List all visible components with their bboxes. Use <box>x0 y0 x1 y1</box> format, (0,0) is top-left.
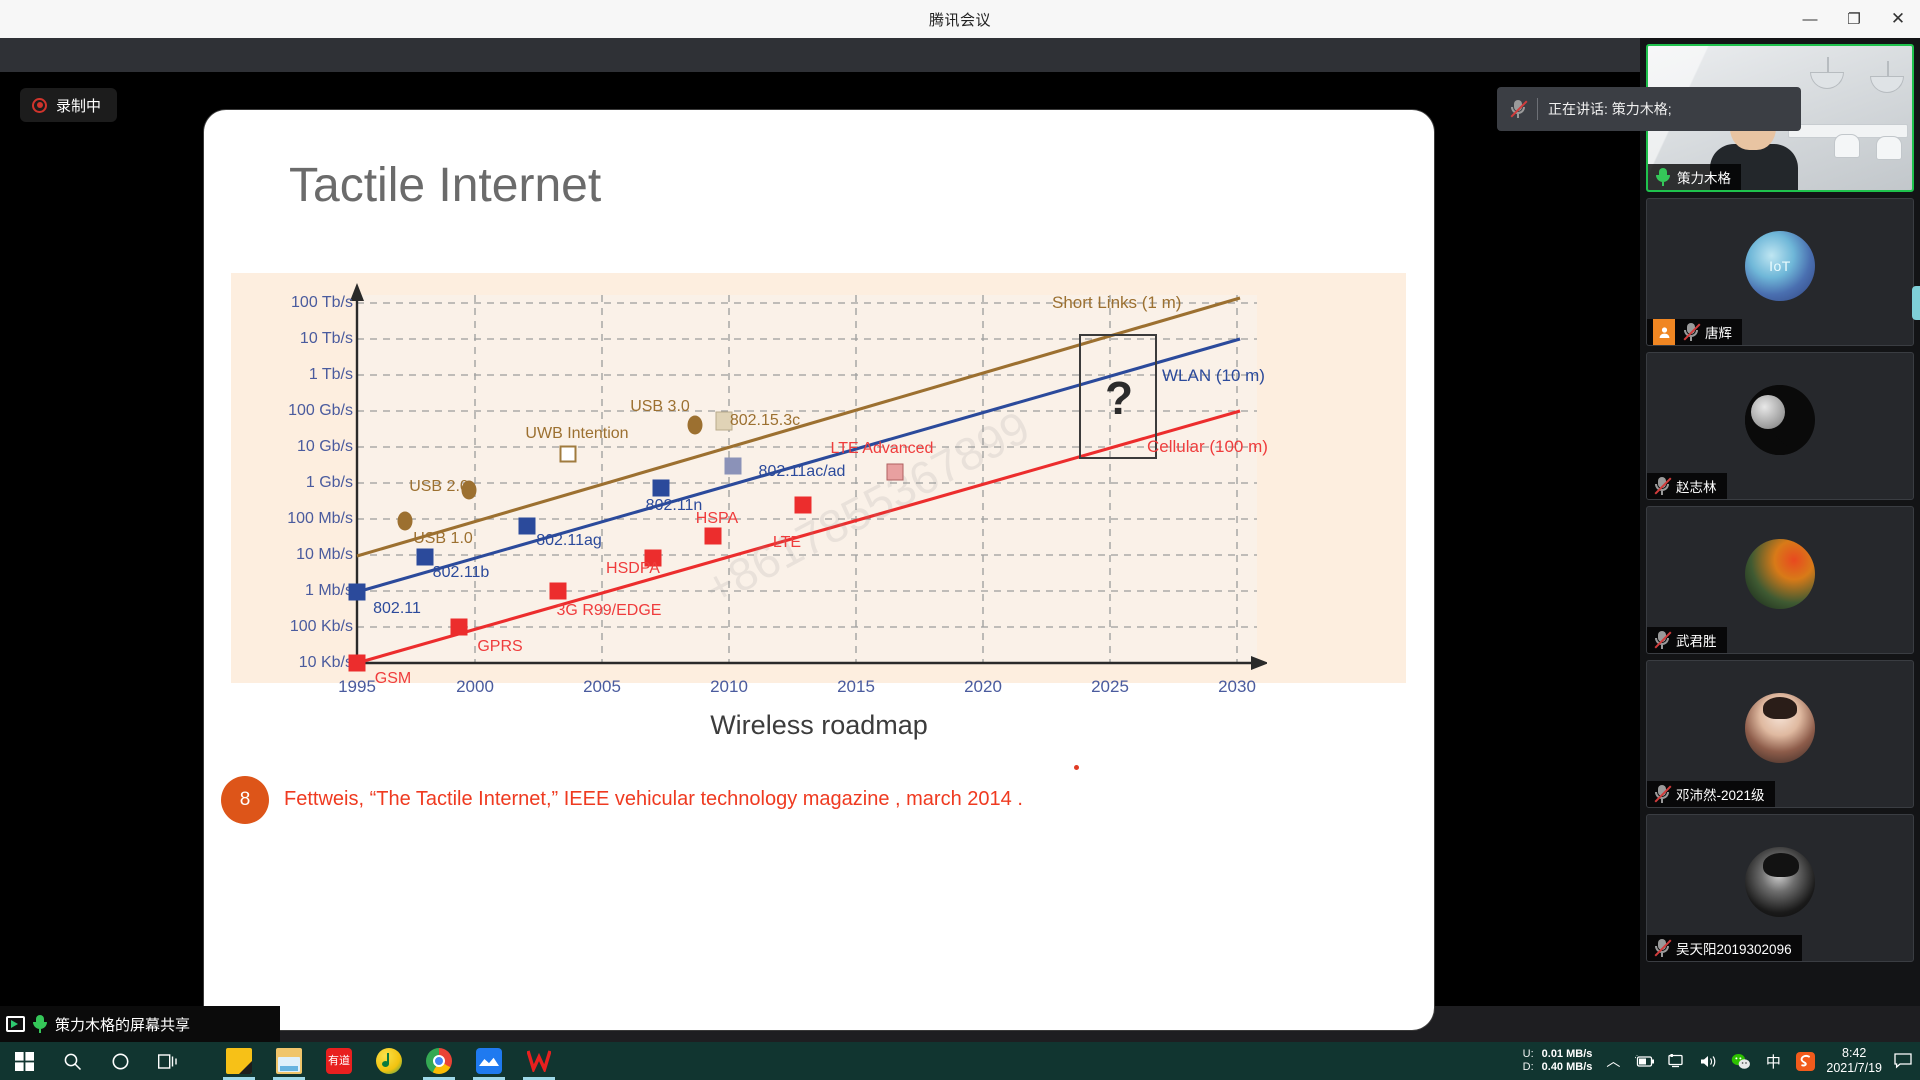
mic-muted-icon <box>1509 99 1527 119</box>
y-tick: 100 Tb/s <box>291 294 353 312</box>
data-point-lte-advanced <box>887 464 904 481</box>
taskbar-app-youdao-dict[interactable]: 有道 <box>314 1042 364 1080</box>
participant-nameplate: 策力木格 <box>1648 164 1741 190</box>
clock-time: 8:42 <box>1826 1046 1882 1061</box>
y-tick: 100 Kb/s <box>290 618 353 636</box>
participant-name: 策力木格 <box>1677 167 1731 187</box>
x-tick: 2005 <box>583 677 621 697</box>
x-tick: 2020 <box>964 677 1002 697</box>
volume-icon[interactable] <box>1698 1050 1720 1072</box>
network-icon[interactable] <box>1666 1050 1688 1072</box>
cortana-icon[interactable] <box>96 1042 144 1080</box>
avatar <box>1745 385 1815 455</box>
data-point-80211acad <box>725 458 742 475</box>
y-tick: 10 Gb/s <box>297 438 353 456</box>
search-icon[interactable] <box>48 1042 96 1080</box>
start-button[interactable] <box>0 1042 48 1080</box>
windows-taskbar: 有道 U: D: 0.01 MB/s 0.40 MB/s <box>0 1042 1920 1080</box>
chevron-up-icon[interactable]: ︿ <box>1602 1050 1624 1072</box>
screen-share-label: 策力木格的屏幕共享 <box>55 1014 190 1035</box>
participant-name: 邓沛然-2021级 <box>1676 784 1765 804</box>
meeting-top-strip <box>0 38 1640 72</box>
mic-muted-icon <box>1653 938 1671 958</box>
wireless-roadmap-chart: +8617855367899 ? 100 Tb/s 10 Tb/s 1 Tb/s… <box>257 281 1267 676</box>
window-titlebar: 腾讯会议 — ❐ ✕ <box>0 0 1920 38</box>
y-tick: 100 Mb/s <box>287 510 353 528</box>
close-button[interactable]: ✕ <box>1876 0 1920 38</box>
participant-tile-5[interactable]: 吴天阳2019302096 <box>1646 814 1914 962</box>
y-axis-labels: 100 Tb/s 10 Tb/s 1 Tb/s 100 Gb/s 10 Gb/s… <box>257 281 353 676</box>
network-speed-indicator: U: D: 0.01 MB/s 0.40 MB/s <box>1523 1048 1593 1074</box>
mic-on-icon <box>31 1014 49 1034</box>
participant-nameplate: 邓沛然-2021级 <box>1647 781 1775 807</box>
avatar <box>1745 539 1815 609</box>
y-tick: 1 Gb/s <box>306 474 353 492</box>
speaking-toast: 正在讲话: 策力木格; <box>1497 87 1801 131</box>
mic-muted-icon <box>1653 476 1671 496</box>
toast-divider <box>1537 98 1538 120</box>
participant-nameplate: 唐辉 <box>1647 319 1742 345</box>
data-point-uwb-intention <box>560 446 577 463</box>
task-view-icon[interactable] <box>144 1042 192 1080</box>
recording-label: 录制中 <box>56 95 101 116</box>
clock-date: 2021/7/19 <box>1826 1061 1882 1076</box>
data-point-usb30 <box>688 416 703 435</box>
data-point-80211b <box>417 549 434 566</box>
screen-share-bar: 策力木格的屏幕共享 <box>0 1006 280 1042</box>
point-label-80211acad: 802.11ac/ad <box>759 463 846 481</box>
wechat-icon[interactable] <box>1730 1050 1752 1072</box>
point-label-uwb-intention: UWB Intention <box>525 425 628 443</box>
minimize-button[interactable]: — <box>1788 0 1832 38</box>
point-label-80211: 802.11 <box>373 600 421 618</box>
participant-name: 吴天阳2019302096 <box>1676 938 1792 958</box>
x-tick: 2000 <box>456 677 494 697</box>
taskbar-app-sticky-notes[interactable] <box>214 1042 264 1080</box>
point-label-gsm: GSM <box>375 670 411 688</box>
data-point-80211 <box>349 584 366 601</box>
data-point-80211n <box>653 480 670 497</box>
avatar <box>1745 847 1815 917</box>
data-point-gprs <box>451 619 468 636</box>
data-point-usb10 <box>398 512 413 531</box>
citation-text: Fettweis, “The Tactile Internet,” IEEE v… <box>284 788 1023 811</box>
taskbar-app-qq-music[interactable] <box>364 1042 414 1080</box>
point-label-80211n: 802.11n <box>646 497 703 515</box>
participant-name: 唐辉 <box>1705 322 1732 342</box>
point-label-usb10: USB 1.0 <box>413 530 473 548</box>
data-point-gsm <box>349 655 366 672</box>
participant-list[interactable]: 策力木格 唐辉 赵志林 <box>1640 38 1920 1006</box>
notification-icon[interactable] <box>1892 1050 1914 1072</box>
taskbar-app-google-chrome[interactable] <box>414 1042 464 1080</box>
point-label-lte-advanced: LTE Advanced <box>831 440 934 458</box>
recording-indicator: 录制中 <box>20 88 117 122</box>
point-label-80211b: 802.11b <box>433 564 490 582</box>
y-tick: 1 Tb/s <box>309 366 353 384</box>
y-tick: 1 Mb/s <box>305 582 353 600</box>
x-tick: 2010 <box>710 677 748 697</box>
data-point-80211ag <box>519 518 536 535</box>
mic-on-icon <box>1654 167 1672 187</box>
ime-chinese-icon[interactable]: 中 <box>1762 1050 1784 1072</box>
avatar <box>1745 693 1815 763</box>
point-label-3g: 3G R99/EDGE <box>557 602 662 620</box>
participant-name: 武君胜 <box>1676 630 1717 650</box>
point-label-usb30: USB 3.0 <box>630 398 690 416</box>
participant-name: 赵志林 <box>1676 476 1717 496</box>
participant-tile-4[interactable]: 邓沛然-2021级 <box>1646 660 1914 808</box>
series-label-short-links: Short Links (1 m) <box>1052 293 1181 313</box>
download-value: 0.40 MB/s <box>1542 1061 1593 1074</box>
page-title: Tactile Internet <box>289 158 601 213</box>
y-tick: 10 Kb/s <box>299 654 353 672</box>
point-label-hsdpa: HSDPA <box>606 560 660 578</box>
data-point-hspa <box>705 528 722 545</box>
presentation-slide: Tactile Internet <box>204 110 1434 1030</box>
series-label-wlan: WLAN (10 m) <box>1162 366 1265 386</box>
battery-icon[interactable] <box>1634 1050 1656 1072</box>
chart-caption: Wireless roadmap <box>204 710 1434 741</box>
mic-muted-icon <box>1653 630 1671 650</box>
taskbar-app-tencent-meeting[interactable] <box>464 1042 514 1080</box>
point-label-80211ag: 802.11ag <box>536 532 602 550</box>
window-controls: — ❐ ✕ <box>1788 0 1920 38</box>
host-badge-icon <box>1653 319 1675 345</box>
series-label-cellular: Cellular (100 m) <box>1147 437 1268 457</box>
upload-value: 0.01 MB/s <box>1542 1048 1593 1061</box>
participant-tile-1[interactable]: 唐辉 <box>1646 198 1914 346</box>
y-tick: 10 Tb/s <box>300 330 353 348</box>
upload-key: U: <box>1523 1048 1534 1061</box>
point-label-usb20: USB 2.0 <box>409 478 469 496</box>
x-tick: 2015 <box>837 677 875 697</box>
system-tray: U: D: 0.01 MB/s 0.40 MB/s ︿ 中 8:42 2021/ <box>1523 1042 1920 1080</box>
record-dot-icon <box>32 98 47 113</box>
slide-number-badge: 8 <box>221 776 269 824</box>
x-tick: 1995 <box>338 677 376 697</box>
x-tick: 2025 <box>1091 677 1129 697</box>
mic-muted-icon <box>1682 322 1700 342</box>
side-panel-peek <box>1912 286 1920 320</box>
y-tick: 10 Mb/s <box>296 546 353 564</box>
window-title: 腾讯会议 <box>929 9 991 30</box>
participant-tile-3[interactable]: 武君胜 <box>1646 506 1914 654</box>
mic-muted-icon <box>1653 784 1671 804</box>
data-point-lte <box>795 497 812 514</box>
point-label-gprs: GPRS <box>477 638 522 656</box>
x-tick: 2030 <box>1218 677 1256 697</box>
participant-tile-2[interactable]: 赵志林 <box>1646 352 1914 500</box>
taskbar-app-wps-office[interactable] <box>514 1042 564 1080</box>
avatar <box>1745 231 1815 301</box>
maximize-button[interactable]: ❐ <box>1832 0 1876 38</box>
screen-share-icon <box>6 1016 25 1032</box>
y-tick: 100 Gb/s <box>288 402 353 420</box>
download-key: D: <box>1523 1061 1534 1074</box>
question-mark-annotation: ? <box>1105 371 1133 425</box>
point-label-lte: LTE <box>773 534 801 552</box>
participant-nameplate: 吴天阳2019302096 <box>1647 935 1802 961</box>
data-point-3g <box>550 583 567 600</box>
shared-screen-area: 录制中 Tactile Internet <box>0 38 1640 1006</box>
speaking-label: 正在讲话: 策力木格; <box>1548 99 1672 119</box>
taskbar-clock[interactable]: 8:42 2021/7/19 <box>1826 1046 1882 1076</box>
sogou-input-icon[interactable] <box>1794 1050 1816 1072</box>
chart-container: +8617855367899 ? 100 Tb/s 10 Tb/s 1 Tb/s… <box>231 273 1406 683</box>
meeting-window: 录制中 Tactile Internet <box>0 38 1920 1042</box>
participant-nameplate: 武君胜 <box>1647 627 1727 653</box>
participant-nameplate: 赵志林 <box>1647 473 1727 499</box>
taskbar-app-file-explorer[interactable] <box>264 1042 314 1080</box>
decorative-dot <box>1074 765 1079 770</box>
point-label-802153c: 802.15.3c <box>730 412 800 430</box>
